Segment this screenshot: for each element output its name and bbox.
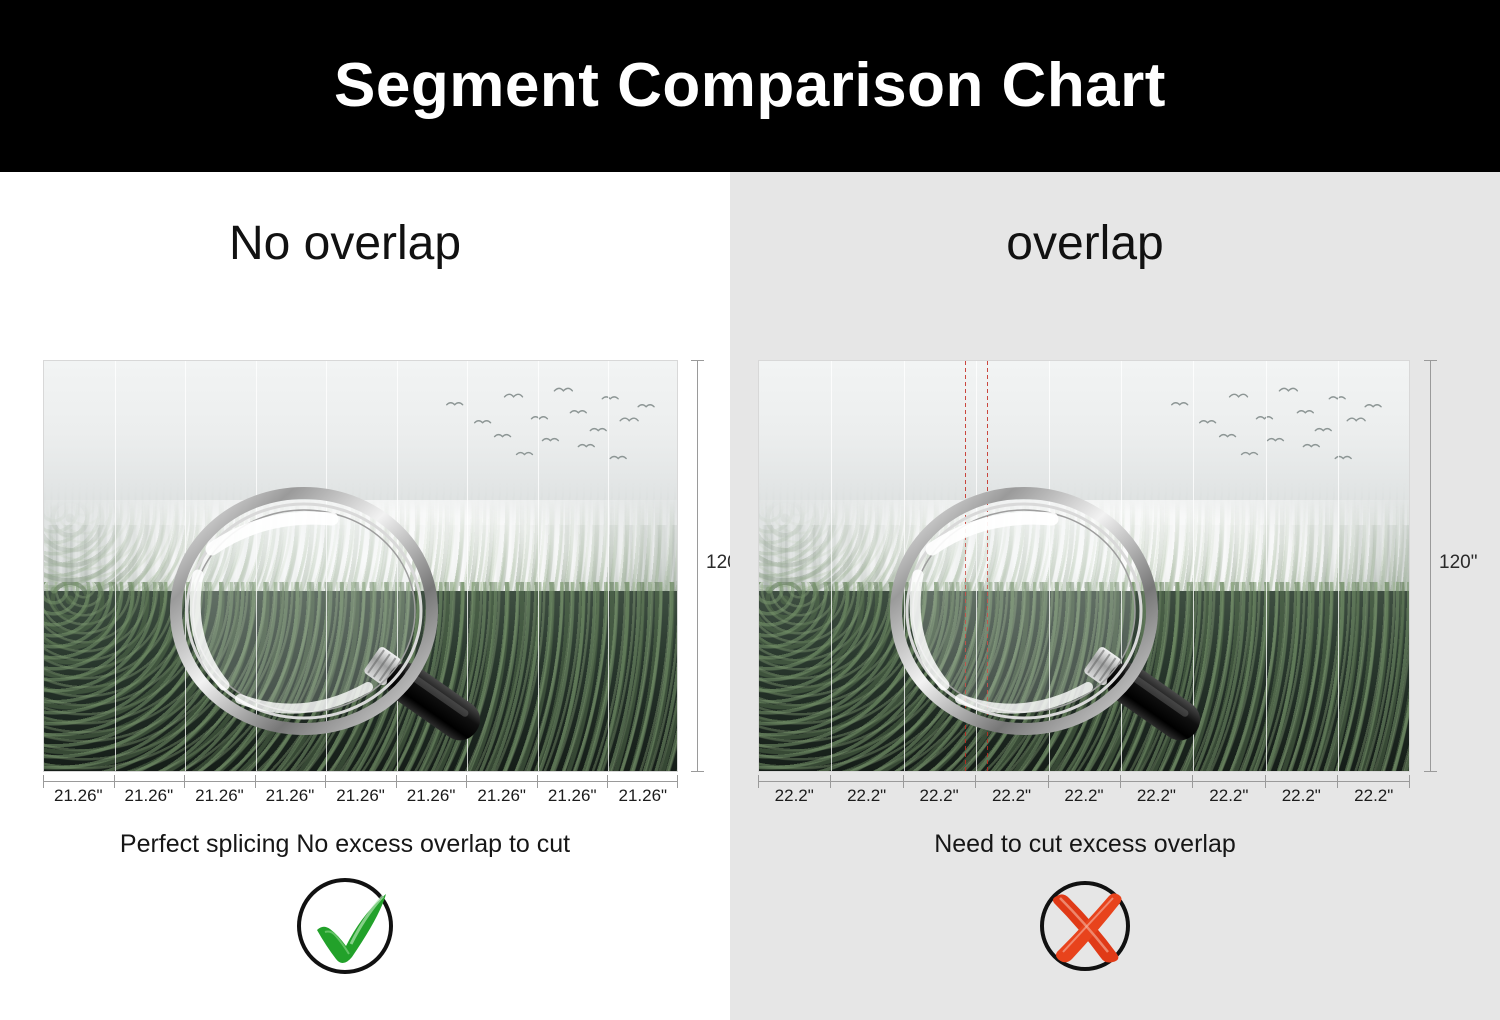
segment-label: 21.26" [184, 786, 255, 806]
segment-label: 22.2" [830, 786, 902, 806]
segment-label: 22.2" [975, 786, 1047, 806]
segment-label: 21.26" [396, 786, 467, 806]
segment-label: 21.26" [608, 786, 679, 806]
panel-overlap: overlap [730, 172, 1500, 1020]
comparison-panels: No overlap [0, 172, 1500, 1020]
overlap-cut-lines [759, 361, 1409, 771]
segment-label: 22.2" [1265, 786, 1337, 806]
segment-label: 22.2" [1338, 786, 1410, 806]
verdict-no-overlap [0, 872, 730, 980]
segment-label: 21.26" [43, 786, 114, 806]
width-dimension-line [43, 781, 678, 782]
title-bar: Segment Comparison Chart [0, 0, 1500, 172]
verdict-overlap [730, 872, 1500, 980]
segment-label: 21.26" [114, 786, 185, 806]
segment-width-labels-no-overlap: 21.26" 21.26" 21.26" 21.26" 21.26" 21.26… [43, 786, 678, 806]
panel-caption-no-overlap: Perfect splicing No excess overlap to cu… [0, 832, 730, 857]
segment-label: 21.26" [325, 786, 396, 806]
panel-caption-overlap: Need to cut excess overlap [730, 832, 1500, 857]
panel-heading-overlap: overlap [730, 220, 1500, 268]
cross-icon [1031, 872, 1139, 980]
segment-label: 22.2" [758, 786, 830, 806]
forest-mural-image [43, 360, 678, 772]
comparison-chart-page: Segment Comparison Chart No overlap [0, 0, 1500, 1020]
height-dimension-label: 120" [1439, 552, 1477, 574]
height-dimension-line [1430, 360, 1431, 772]
height-dimension-line [697, 360, 698, 772]
mural-no-overlap [43, 360, 678, 772]
mural-overlap [758, 360, 1410, 772]
panel-seam-lines [44, 361, 677, 771]
segment-label: 21.26" [255, 786, 326, 806]
forest-mural-image [758, 360, 1410, 772]
segment-label: 22.2" [1048, 786, 1120, 806]
width-dimension-line [758, 781, 1410, 782]
check-icon [291, 872, 399, 980]
segment-label: 21.26" [537, 786, 608, 806]
panel-heading-no-overlap: No overlap [0, 220, 730, 268]
segment-width-labels-overlap: 22.2" 22.2" 22.2" 22.2" 22.2" 22.2" 22.2… [758, 786, 1410, 806]
segment-label: 21.26" [466, 786, 537, 806]
segment-label: 22.2" [1120, 786, 1192, 806]
page-title: Segment Comparison Chart [334, 55, 1166, 117]
segment-label: 22.2" [1193, 786, 1265, 806]
panel-no-overlap: No overlap [0, 172, 730, 1020]
segment-label: 22.2" [903, 786, 975, 806]
